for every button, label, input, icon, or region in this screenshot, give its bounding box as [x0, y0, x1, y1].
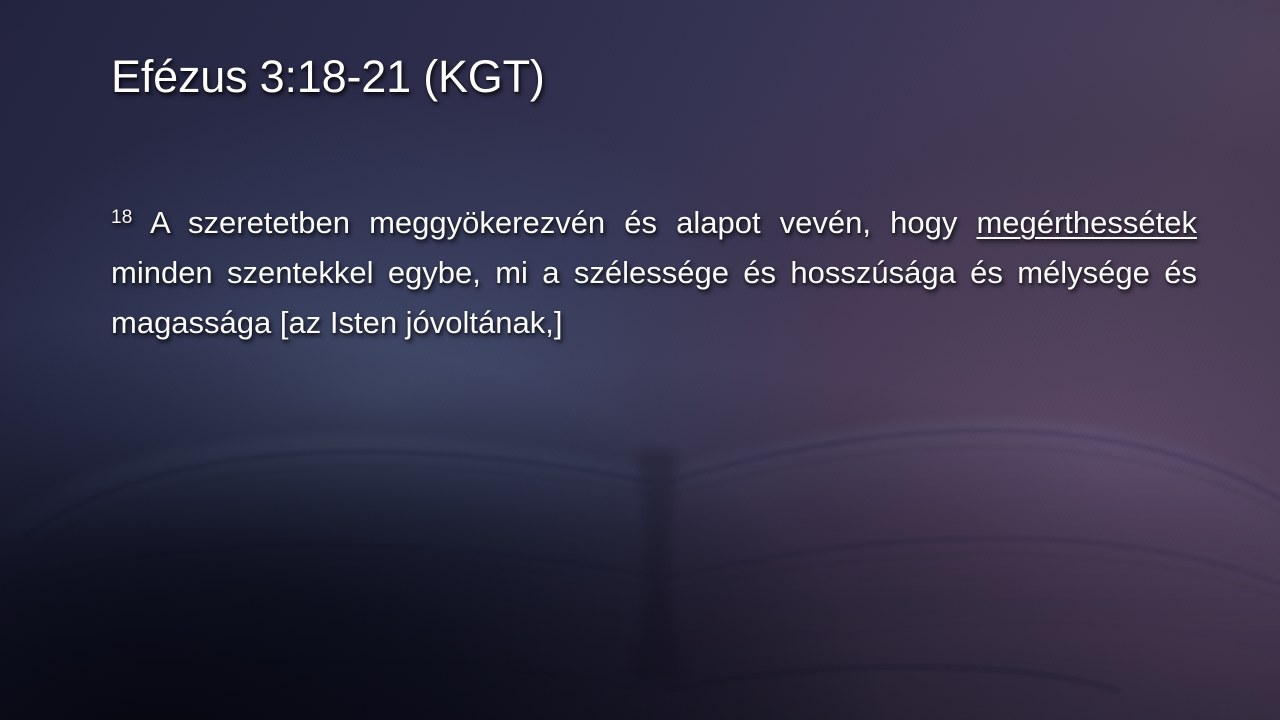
presentation-slide: Efézus 3:18-21 (KGT) 18 A szeretetben me… — [0, 0, 1280, 720]
slide-title: Efézus 3:18-21 (KGT) — [111, 51, 1171, 103]
verse-number: 18 — [111, 207, 133, 228]
verse-text-after-emphasis: minden szentekkel egybe, mi a szélessége… — [111, 255, 1197, 340]
verse-emphasized-word: megérthessétek — [976, 205, 1197, 240]
scripture-body: 18 A szeretetben meggyökerezvén és alapo… — [111, 193, 1197, 348]
verse-text-before-emphasis: A szeretetben meggyökerezvén és alapot v… — [133, 205, 977, 240]
slide-content: Efézus 3:18-21 (KGT) 18 A szeretetben me… — [0, 0, 1280, 720]
